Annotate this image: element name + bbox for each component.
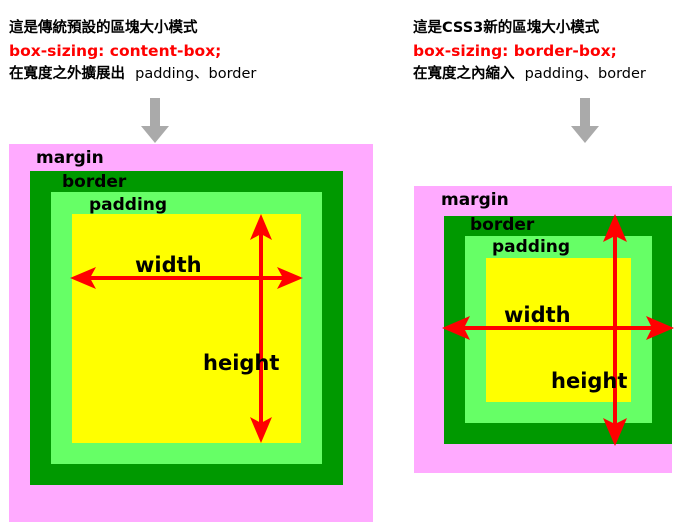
- margin-label: margin: [36, 148, 104, 168]
- arrow-down-icon: [140, 98, 170, 144]
- width-label: width: [504, 303, 571, 327]
- caption-right-line-3: 在寬度之內縮入 padding、border: [413, 63, 646, 85]
- width-label: width: [135, 253, 202, 277]
- caption-right-line-3-latin: padding、border: [525, 66, 646, 82]
- dimension-arrows: [60, 202, 315, 457]
- caption-left-line-3-latin: padding、border: [135, 66, 256, 82]
- caption-content-box: 這是傳統預設的區塊大小模式 box-sizing: content-box; 在…: [9, 17, 256, 86]
- caption-right-line-3-cjk: 在寬度之內縮入: [413, 66, 515, 82]
- caption-left-line-3-cjk: 在寬度之外擴展出: [9, 66, 125, 82]
- caption-right-line-1: 這是CSS3新的區塊大小模式: [413, 17, 646, 39]
- arrow-down-icon: [570, 98, 600, 144]
- caption-left-line-1: 這是傳統預設的區塊大小模式: [9, 17, 256, 39]
- dimension-arrows: [432, 204, 684, 456]
- caption-border-box: 這是CSS3新的區塊大小模式 box-sizing: border-box; 在…: [413, 17, 646, 86]
- height-label: height: [551, 369, 627, 393]
- double-arrow-vertical-icon: [250, 214, 272, 443]
- caption-left-line-3: 在寬度之外擴展出 padding、border: [9, 63, 256, 85]
- border-label: border: [62, 172, 126, 192]
- caption-left-code: box-sizing: content-box;: [9, 39, 256, 63]
- height-label: height: [203, 351, 279, 375]
- caption-right-code: box-sizing: border-box;: [413, 39, 646, 63]
